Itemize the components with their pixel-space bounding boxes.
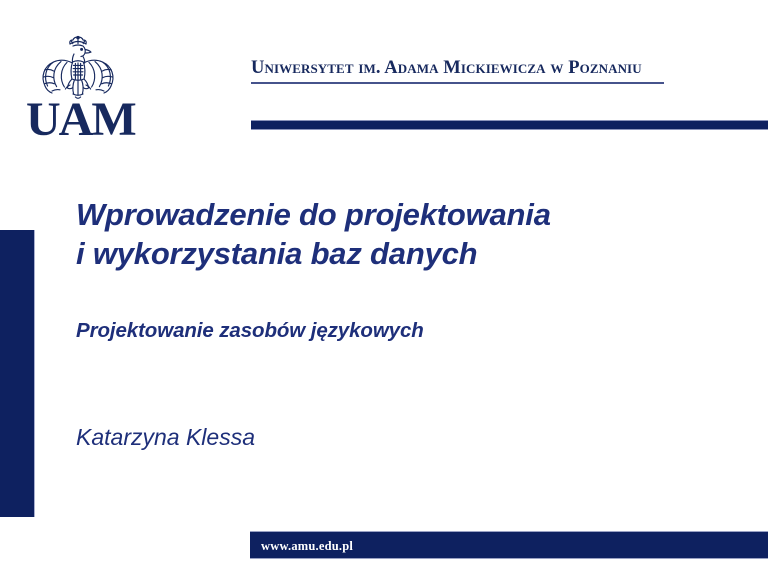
left-accent-block (0, 230, 35, 517)
slide-subtitle-area: Projektowanie zasobów językowych (76, 318, 676, 344)
uam-logo: UAM (26, 33, 130, 145)
footer-website-url: www.amu.edu.pl (261, 538, 353, 554)
presentation-slide: UAM Uniwersytet im. Adama Mickiewicza w … (0, 0, 768, 576)
header-underline-rule (251, 82, 664, 84)
slide-author: Katarzyna Klessa (76, 423, 676, 452)
slide-subtitle: Projektowanie zasobów językowych (76, 318, 676, 344)
slide-title-area: Wprowadzenie do projektowania i wykorzys… (76, 195, 676, 273)
slide-title-line-2: i wykorzystania baz danych (76, 234, 676, 273)
footer-bar: www.amu.edu.pl (250, 531, 768, 559)
slide-author-area: Katarzyna Klessa (76, 423, 676, 452)
slide-title-line-1: Wprowadzenie do projektowania (76, 195, 676, 234)
institution-name: Uniwersytet im. Adama Mickiewicza w Pozn… (251, 57, 664, 79)
uam-wordmark: UAM (26, 95, 130, 145)
header-accent-bar (251, 120, 768, 130)
